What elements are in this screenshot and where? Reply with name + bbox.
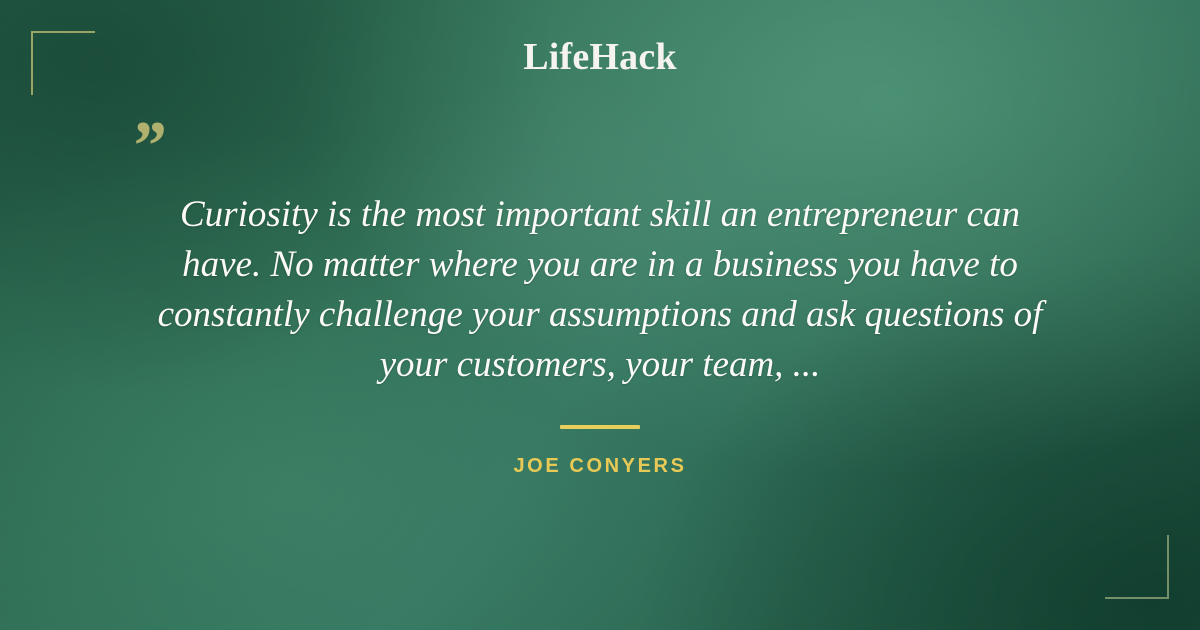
quote-block: ” Curiosity is the most important skill … — [0, 112, 1200, 390]
brand-logo-text: LifeHack — [523, 38, 677, 76]
author-name: JOE CONYERS — [513, 455, 686, 478]
attribution-block: JOE CONYERS — [0, 425, 1200, 478]
attribution-divider — [560, 425, 640, 429]
corner-bracket-bottom-right — [1105, 535, 1169, 599]
quote-text: Curiosity is the most important skill an… — [95, 190, 1105, 390]
quote-line: have. No matter where you are in a busin… — [95, 240, 1105, 290]
quote-line: Curiosity is the most important skill an… — [95, 190, 1105, 240]
quote-line: your customers, your team, ... — [95, 340, 1105, 390]
quotation-mark-icon: ” — [130, 112, 165, 182]
quote-card: LifeHack ” Curiosity is the most importa… — [0, 0, 1200, 630]
quote-line: constantly challenge your assumptions an… — [95, 290, 1105, 340]
brand-logo: LifeHack — [0, 38, 1200, 76]
